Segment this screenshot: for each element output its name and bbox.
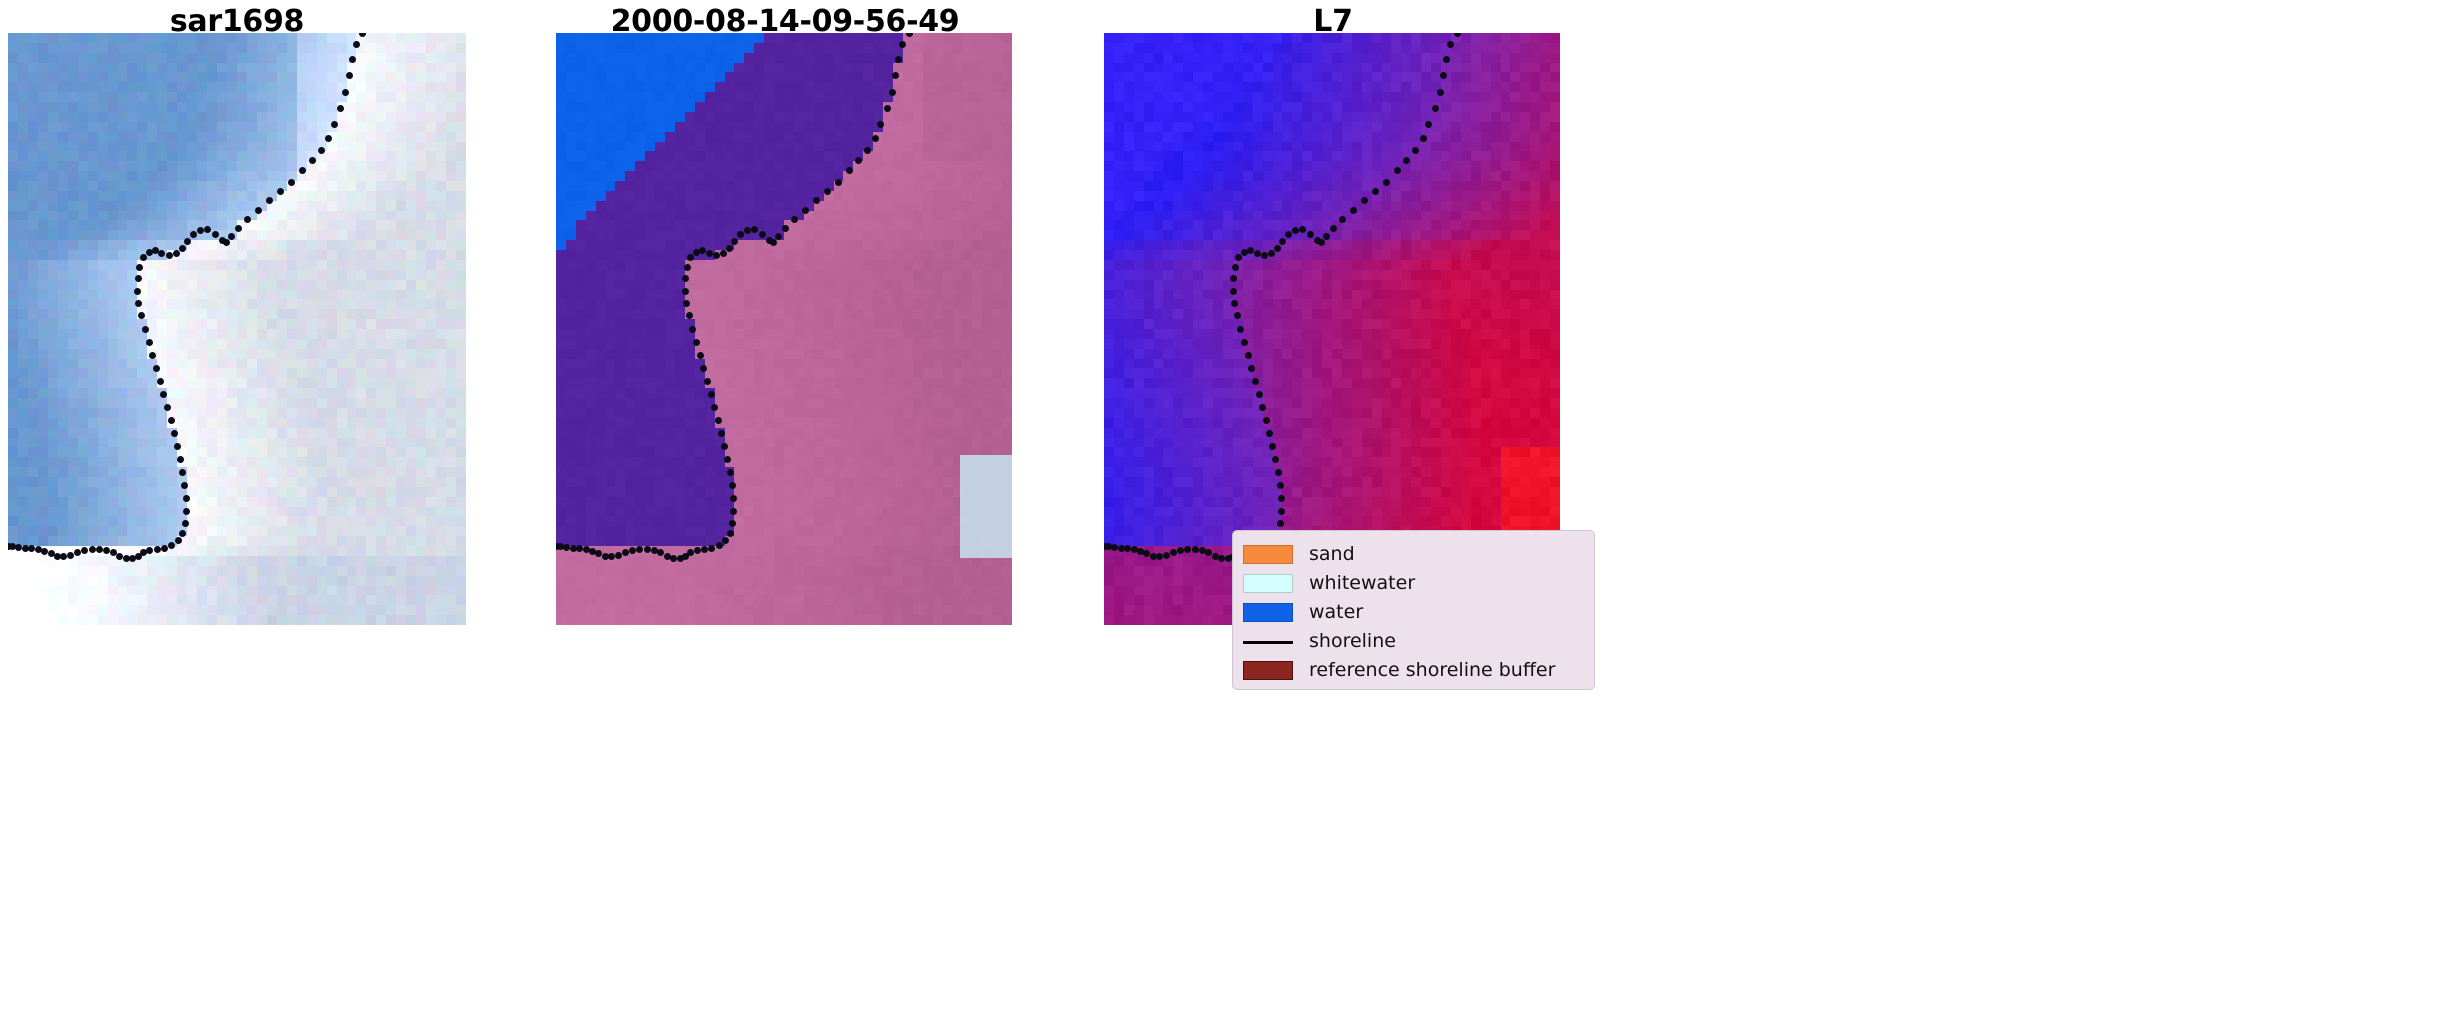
shoreline-point	[89, 546, 96, 553]
legend-item-whitewater: whitewater	[1243, 569, 1582, 598]
shoreline-point	[727, 530, 734, 537]
shoreline-point	[1252, 378, 1259, 385]
shoreline-point	[134, 288, 141, 295]
classification-image[interactable]	[556, 33, 1012, 625]
shoreline-point	[570, 545, 577, 552]
shoreline-point	[1275, 469, 1282, 476]
shoreline-point	[1137, 548, 1144, 555]
shoreline-point	[583, 546, 590, 553]
shoreline-point	[715, 417, 722, 424]
legend-item-reference-buffer: reference shoreline buffer	[1243, 656, 1582, 685]
shoreline-point	[682, 288, 689, 295]
shoreline-point	[775, 233, 782, 240]
shoreline-point	[713, 252, 720, 259]
shoreline-point	[835, 179, 842, 186]
legend-item-water: water	[1243, 598, 1582, 627]
shoreline-point	[1272, 456, 1279, 463]
shoreline-point	[318, 147, 325, 154]
shoreline-point	[602, 553, 609, 560]
shoreline-point	[1241, 249, 1248, 256]
shoreline-point	[166, 252, 173, 259]
shoreline-point	[708, 545, 715, 552]
legend-label-shoreline: shoreline	[1309, 632, 1396, 651]
shoreline-point	[1163, 552, 1170, 559]
shoreline-point	[1192, 546, 1199, 553]
sar-image[interactable]	[8, 33, 466, 625]
legend-label-water: water	[1309, 603, 1363, 622]
sand-swatch	[1243, 545, 1293, 564]
shoreline-point	[1118, 545, 1125, 552]
shoreline-point	[1261, 252, 1268, 259]
shoreline-point	[1307, 231, 1314, 238]
shoreline-point	[689, 326, 696, 333]
shoreline-point	[708, 391, 715, 398]
shoreline-point	[1454, 33, 1461, 37]
shoreline-point	[171, 430, 178, 437]
shoreline-point	[1231, 300, 1238, 307]
shoreline-point	[142, 326, 149, 333]
shoreline-point	[644, 546, 651, 553]
shoreline-point	[309, 157, 316, 164]
shoreline-point	[168, 417, 175, 424]
shoreline-point	[184, 238, 191, 245]
shoreline-point	[872, 135, 879, 142]
shoreline-point	[701, 546, 708, 553]
shoreline-point	[1256, 391, 1263, 398]
shoreline-point	[700, 365, 707, 372]
shoreline-point	[693, 339, 700, 346]
shoreline-point	[1269, 443, 1276, 450]
shoreline-point	[1131, 546, 1138, 553]
shoreline-point	[1277, 482, 1284, 489]
shoreline-point	[1403, 157, 1410, 164]
shoreline-point	[589, 548, 596, 555]
shoreline-point	[693, 249, 700, 256]
shoreline-point	[1259, 404, 1266, 411]
shoreline-point	[721, 443, 728, 450]
shoreline-point	[164, 404, 171, 411]
shoreline-point	[157, 378, 164, 385]
shoreline-point	[173, 250, 180, 257]
shoreline-point	[228, 233, 235, 240]
shoreline-point	[1177, 547, 1184, 554]
legend-label-sand: sand	[1309, 545, 1355, 564]
legend-item-sand: sand	[1243, 540, 1582, 569]
shoreline-point	[737, 231, 744, 238]
shoreline-point	[35, 546, 42, 553]
shoreline-point	[346, 72, 353, 79]
shoreline-point	[629, 547, 636, 554]
shoreline-point	[884, 105, 891, 112]
class-legend[interactable]: sand whitewater water shoreline referenc…	[1232, 530, 1595, 690]
shoreline-point	[1232, 264, 1239, 271]
shoreline-point	[615, 552, 622, 559]
shoreline-point	[353, 41, 360, 48]
shoreline-point	[677, 555, 684, 562]
shoreline-point	[146, 339, 153, 346]
shoreline-point	[782, 225, 789, 232]
shoreline-point	[1274, 245, 1281, 252]
shoreline-point	[1237, 326, 1244, 333]
shoreline-point	[664, 553, 671, 560]
shoreline-point	[1437, 89, 1444, 96]
shoreline-point	[1263, 417, 1270, 424]
shoreline-point	[342, 89, 349, 96]
shoreline-point	[177, 456, 184, 463]
shoreline-point	[146, 249, 153, 256]
shoreline-point	[160, 391, 167, 398]
shoreline-point	[727, 469, 734, 476]
shoreline-point	[1278, 495, 1285, 502]
shoreline-point	[1420, 135, 1427, 142]
shoreline-point	[684, 264, 691, 271]
legend-label-reference-buffer: reference shoreline buffer	[1309, 661, 1555, 680]
shoreline-point	[135, 275, 142, 282]
shoreline-point	[729, 482, 736, 489]
shoreline-point	[96, 546, 103, 553]
shoreline-point	[726, 245, 733, 252]
shoreline-point	[154, 546, 161, 553]
shoreline-point	[906, 33, 913, 37]
shoreline-point	[716, 542, 723, 549]
shoreline-point	[694, 547, 701, 554]
shoreline-point	[697, 352, 704, 359]
shoreline-point	[1199, 547, 1206, 554]
shoreline-point	[235, 225, 242, 232]
water-swatch	[1243, 603, 1293, 622]
shoreline-point	[711, 404, 718, 411]
shoreline-point	[1266, 430, 1273, 437]
shoreline-point	[718, 430, 725, 437]
shoreline-point	[1245, 352, 1252, 359]
shoreline-point	[651, 547, 658, 554]
shoreline-point	[1383, 179, 1390, 186]
shoreline-point	[325, 135, 332, 142]
shoreline-point	[123, 555, 130, 562]
shoreline-point	[724, 456, 731, 463]
shoreline-point	[1225, 555, 1232, 562]
shoreline-point	[1323, 233, 1330, 240]
shoreline-point	[1150, 553, 1157, 560]
shoreline-point	[1230, 288, 1237, 295]
shoreline-swatch	[1243, 632, 1293, 651]
shoreline-point	[855, 157, 862, 164]
shoreline-point	[197, 227, 204, 234]
shoreline-point	[1285, 231, 1292, 238]
shoreline-point	[54, 553, 61, 560]
panel-sar: sar1698	[0, 0, 474, 640]
shoreline-point	[174, 443, 181, 450]
shoreline-point	[766, 237, 773, 244]
shoreline-point	[67, 552, 74, 559]
shoreline-point	[683, 300, 690, 307]
shoreline-point	[190, 231, 197, 238]
shoreline-point	[1268, 250, 1275, 257]
shoreline-point	[219, 237, 226, 244]
reference-shoreline-buffer-swatch	[1243, 661, 1293, 680]
figure-canvas: sar1698 2000-08-14-09-56-49 L7 sand whit…	[0, 0, 2460, 1010]
shoreline-point	[759, 231, 766, 238]
shoreline-point	[1330, 225, 1337, 232]
shoreline-point	[1432, 105, 1439, 112]
legend-item-shoreline: shoreline	[1243, 627, 1582, 656]
shoreline-point	[1248, 365, 1255, 372]
shoreline-point	[1254, 250, 1261, 257]
panel-classification: 2000-08-14-09-56-49	[548, 0, 1022, 640]
shoreline-point	[706, 250, 713, 257]
shoreline-point	[182, 520, 189, 527]
legend-label-whitewater: whitewater	[1309, 574, 1415, 593]
shoreline-point	[730, 495, 737, 502]
shoreline-point	[22, 545, 29, 552]
shoreline-point	[183, 495, 190, 502]
shoreline-point	[704, 378, 711, 385]
shoreline-point	[1292, 227, 1299, 234]
shoreline-point	[744, 227, 751, 234]
shoreline-point	[1241, 339, 1248, 346]
shoreline-point	[889, 89, 896, 96]
whitewater-swatch	[1243, 574, 1293, 593]
shoreline-point	[161, 545, 168, 552]
shoreline-point	[149, 352, 156, 359]
shoreline-point	[179, 245, 186, 252]
shoreline-point	[349, 56, 356, 63]
shoreline-point	[1212, 553, 1219, 560]
shoreline-point	[212, 231, 219, 238]
shoreline-point	[153, 365, 160, 372]
shoreline-point	[720, 250, 727, 257]
shoreline-point	[183, 508, 190, 515]
shoreline-point	[331, 121, 338, 128]
shoreline-point	[1314, 237, 1321, 244]
